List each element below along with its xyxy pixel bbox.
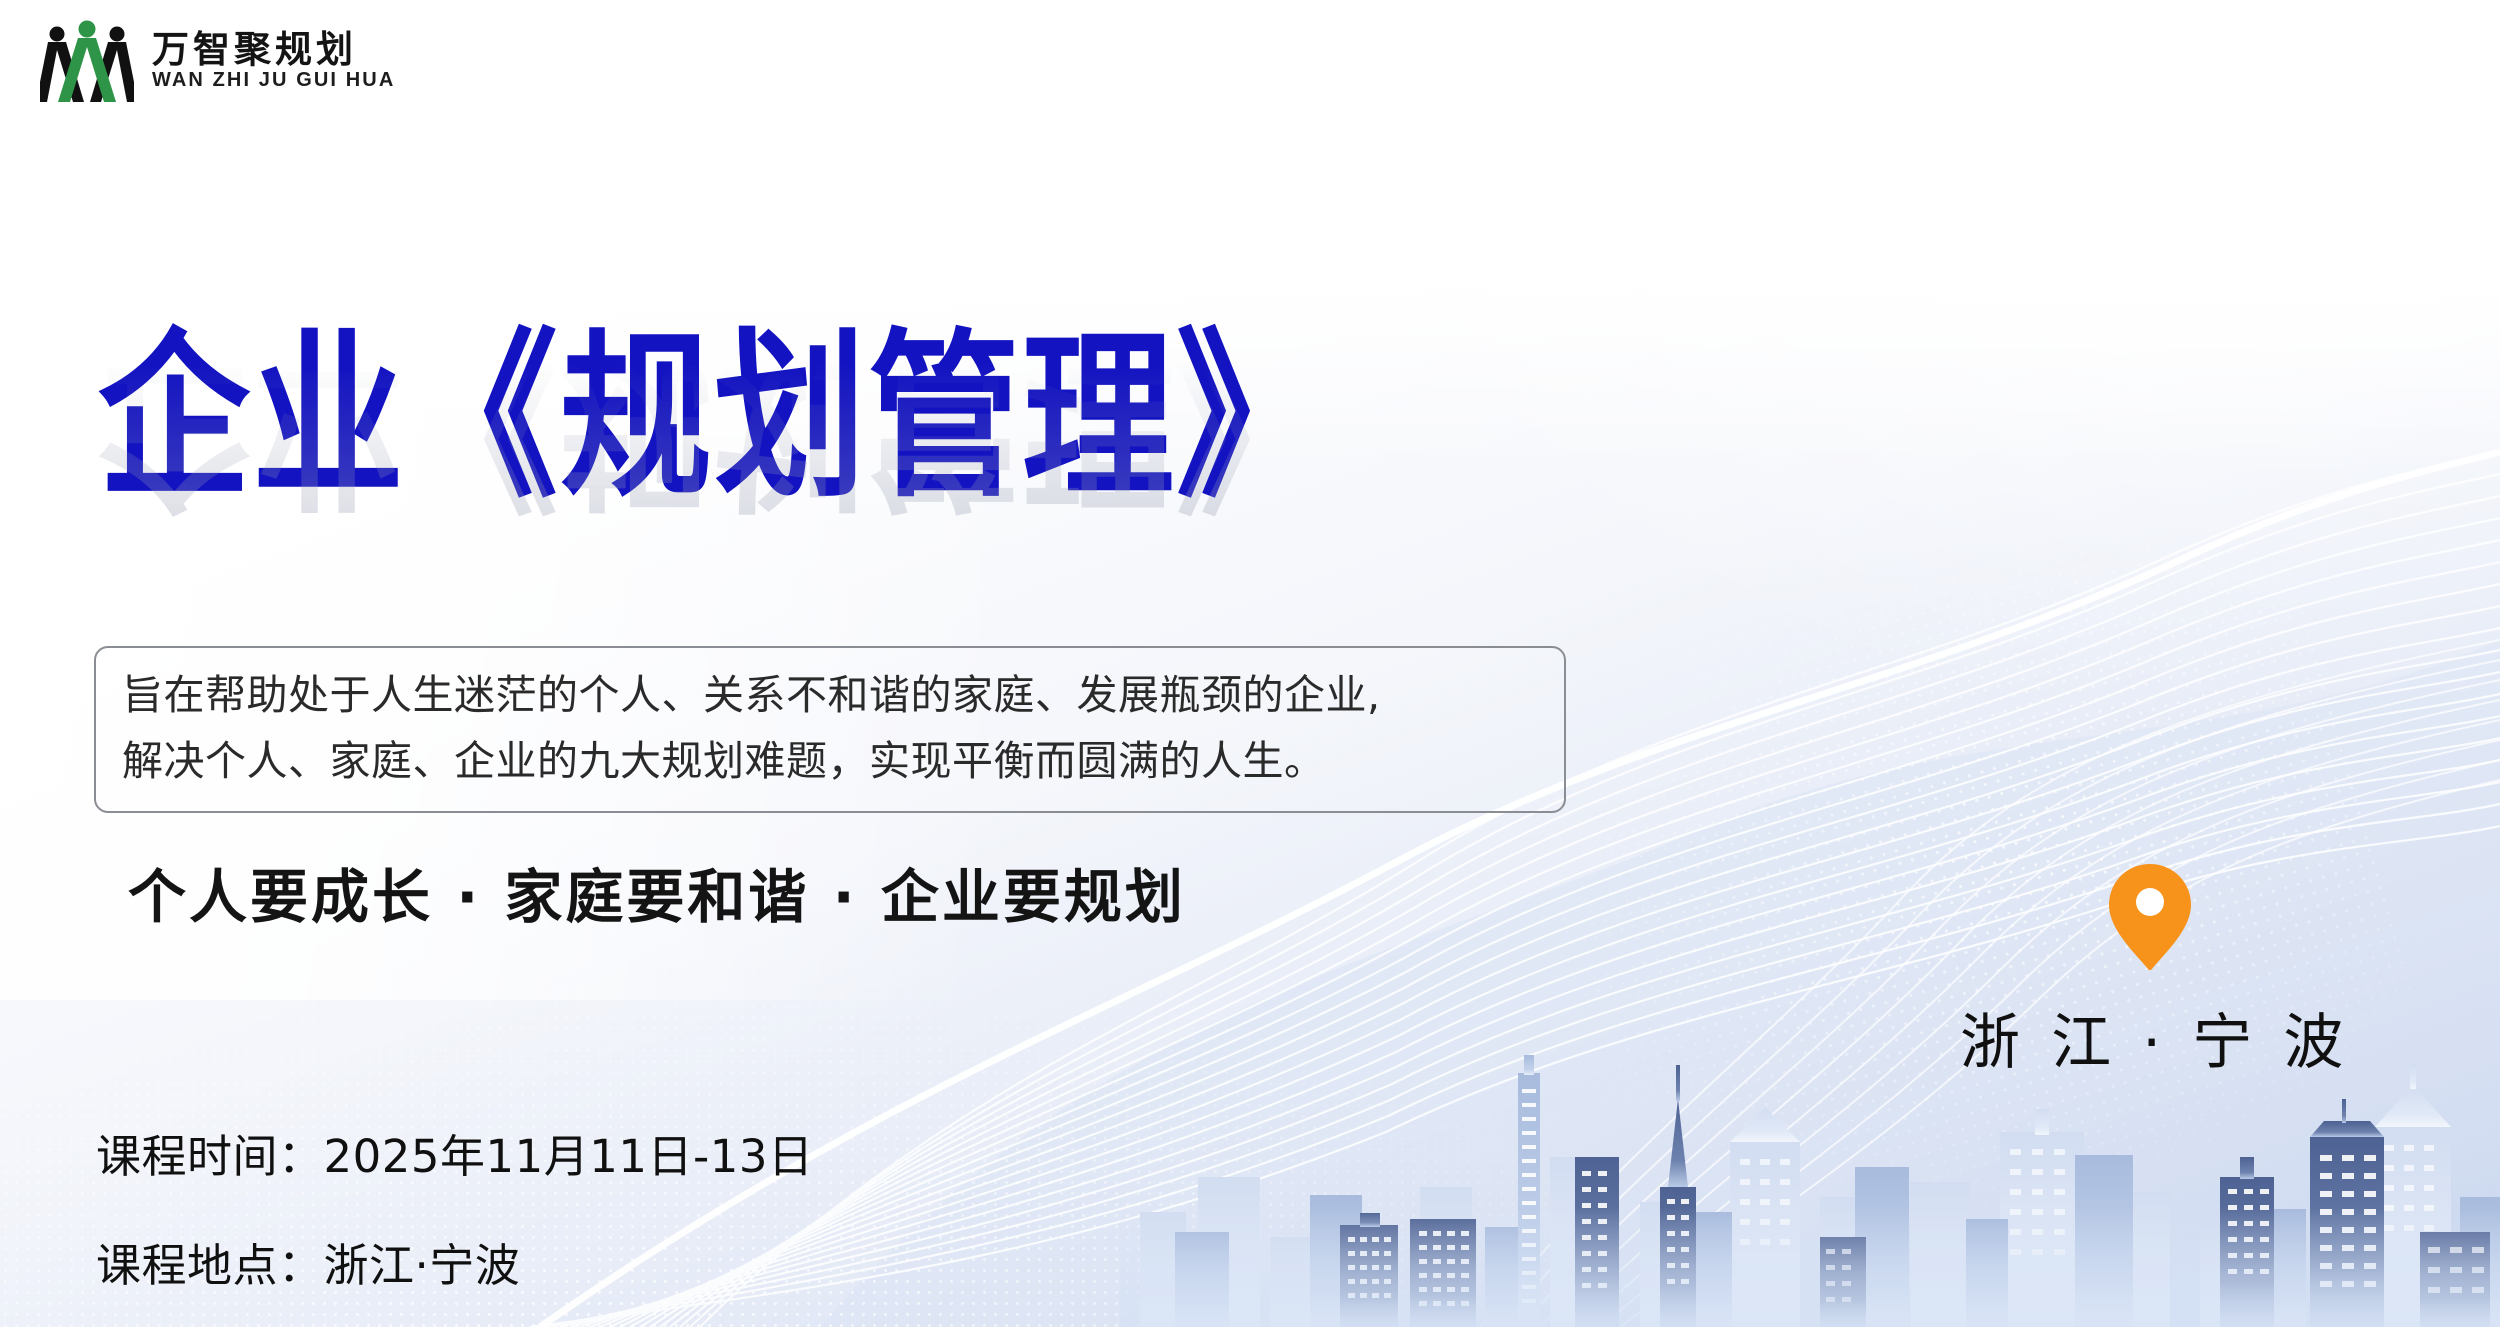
description-box: 旨在帮助处于人生迷茫的个人、关系不和谐的家庭、发展瓶颈的企业, 解决个人、家庭、… bbox=[94, 646, 1566, 813]
description-line-1: 旨在帮助处于人生迷茫的个人、关系不和谐的家庭、发展瓶颈的企业, bbox=[122, 662, 1538, 728]
three-people-m-logo-icon bbox=[40, 18, 134, 102]
brand-logo[interactable]: 万智聚规划 WAN ZHI JU GUI HUA bbox=[40, 18, 395, 102]
location-name: 浙 江 · 宁 波 bbox=[1960, 994, 2340, 1081]
page-title-reflection: 企业《规划管理》 bbox=[98, 349, 1330, 518]
brand-name-en: WAN ZHI JU GUI HUA bbox=[152, 70, 395, 90]
tagline: 个人要成长 · 家庭要和谐 · 企业要规划 bbox=[128, 850, 1186, 934]
location-badge: 浙 江 · 宁 波 bbox=[1960, 862, 2340, 1081]
course-info: 课程时间：2025年11月11日-13日 课程地点：浙江·宁波 bbox=[96, 1120, 814, 1294]
description-line-2: 解决个人、家庭、企业的九大规划难题，实现平衡而圆满的人生。 bbox=[122, 728, 1538, 794]
hero-title-block: 企业《规划管理》 企业《规划管理》 bbox=[98, 322, 1330, 483]
brand-name-cn: 万智聚规划 bbox=[152, 31, 395, 68]
course-time: 课程时间：2025年11月11日-13日 bbox=[96, 1120, 814, 1185]
brand-logo-text: 万智聚规划 WAN ZHI JU GUI HUA bbox=[152, 31, 395, 90]
poster-canvas: 万智聚规划 WAN ZHI JU GUI HUA 企业《规划管理》 企业《规划管… bbox=[0, 0, 2500, 1327]
map-pin-icon bbox=[2107, 862, 2193, 972]
course-place: 课程地点：浙江·宁波 bbox=[96, 1229, 814, 1294]
